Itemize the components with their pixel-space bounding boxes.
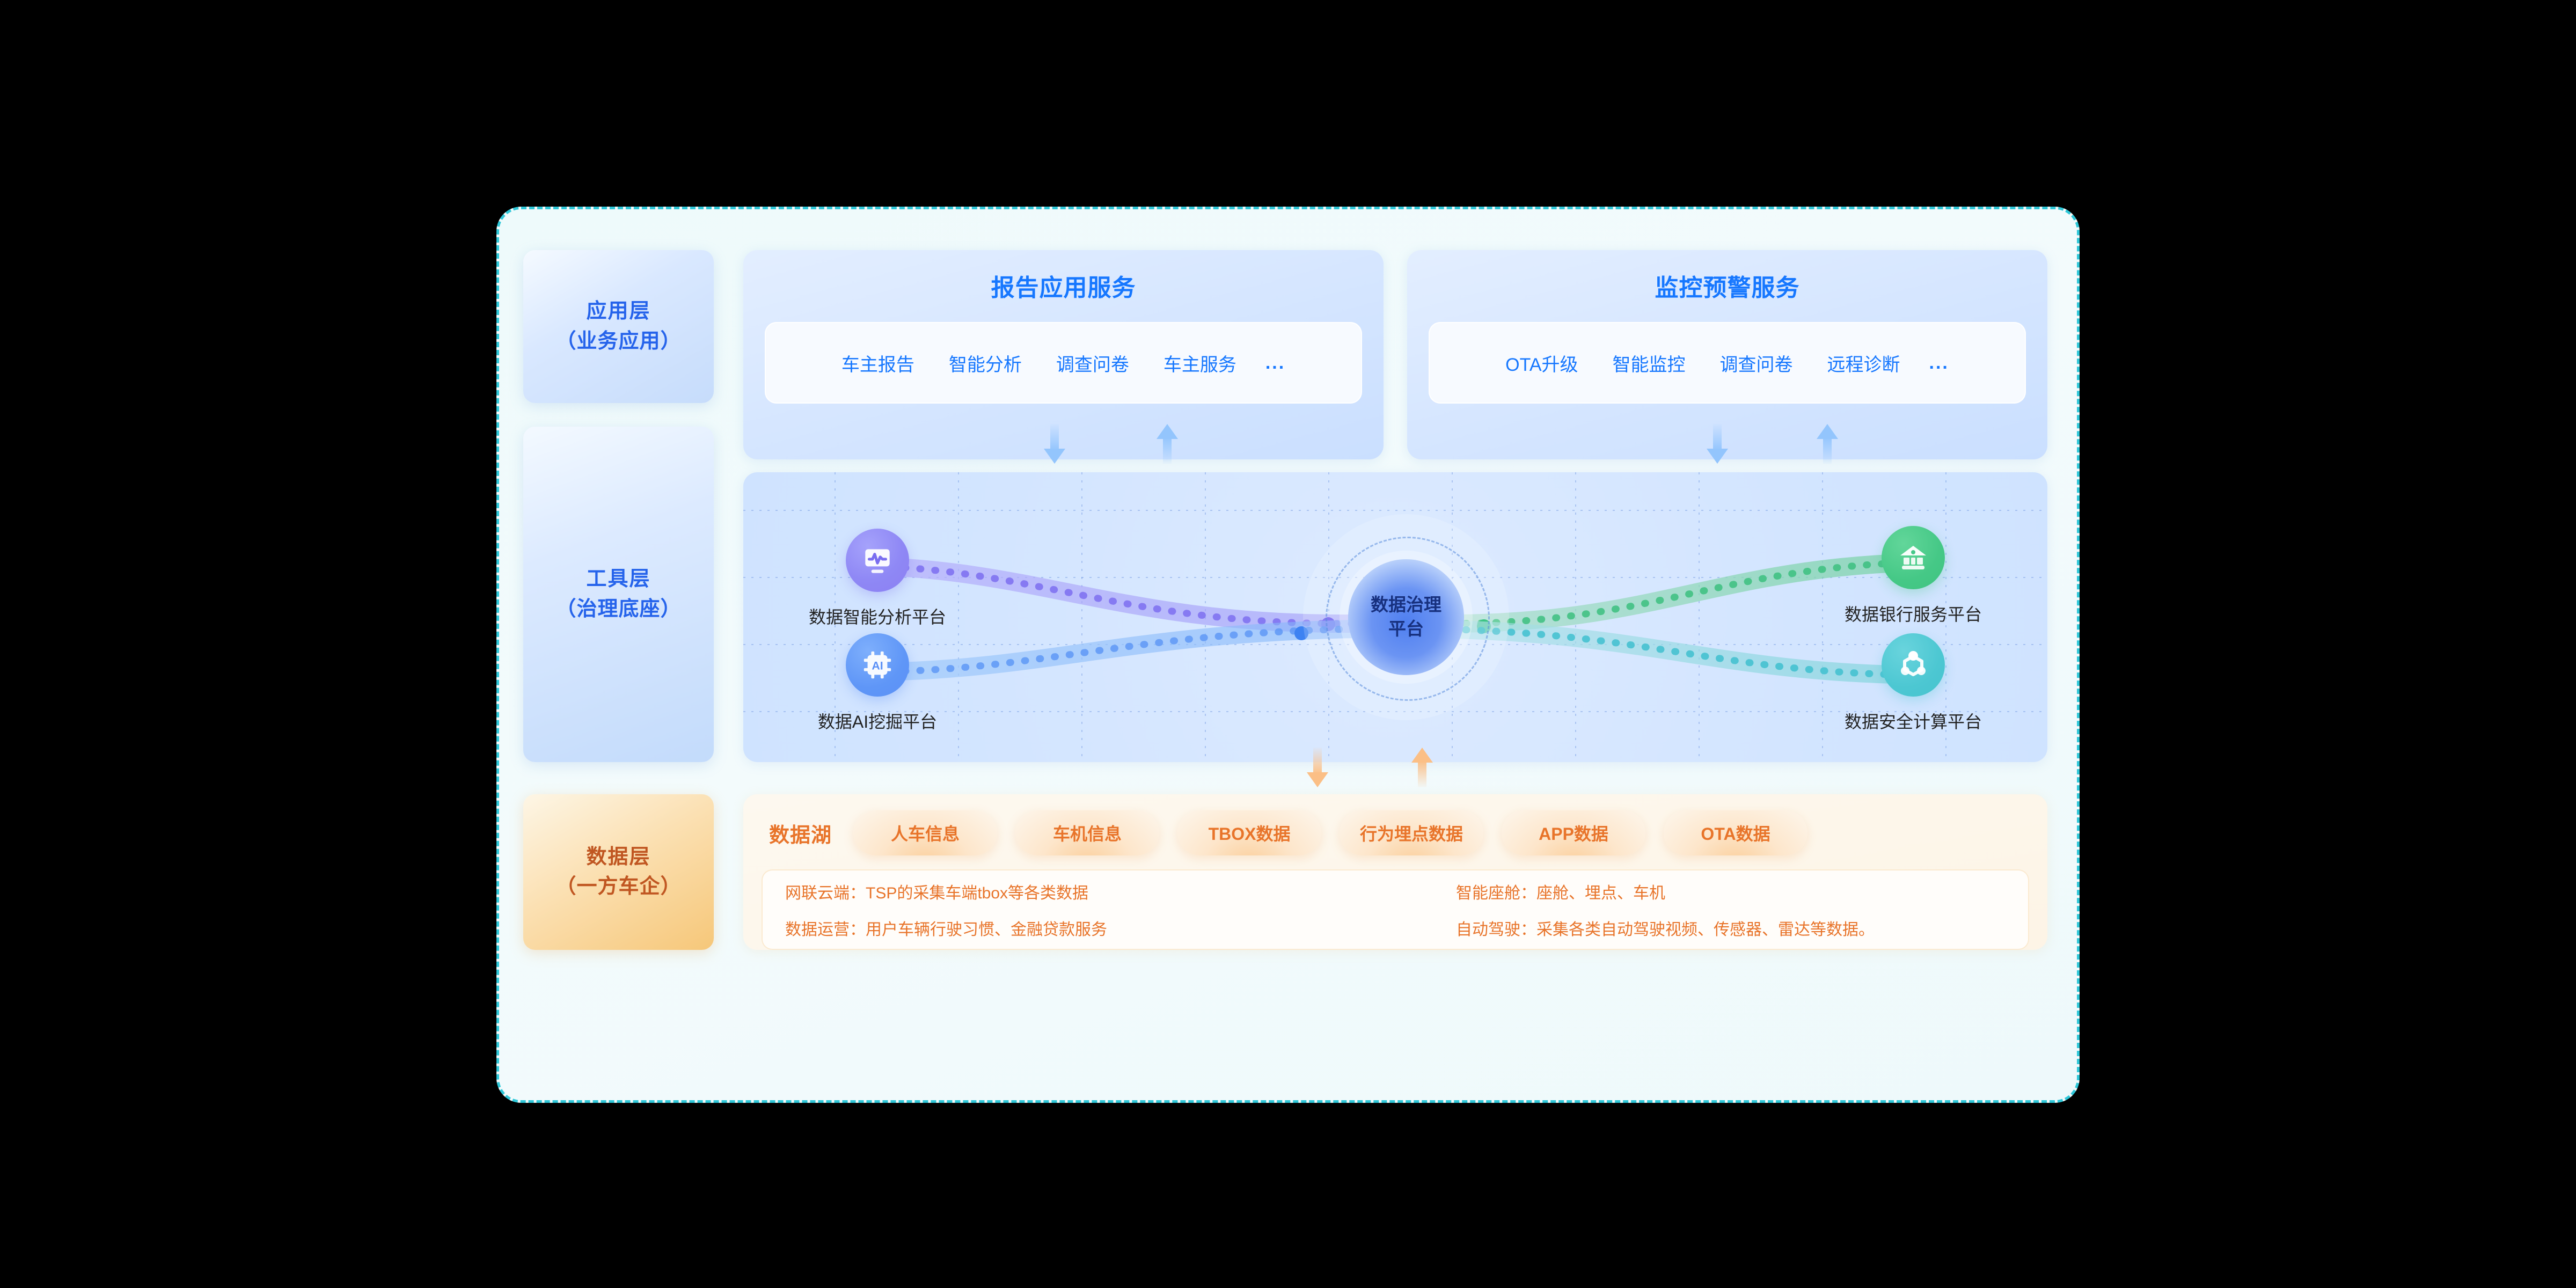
arrow-up-report xyxy=(1157,424,1178,464)
data-governance-hub[interactable]: 数据治理 平台 xyxy=(1336,547,1476,687)
data-lake-chip-row: 数据湖 人车信息 车机信息 TBOX数据 行为埋点数据 APP数据 OTA数据 xyxy=(762,807,2029,859)
hub-label-line2: 平台 xyxy=(1388,617,1424,641)
ai-chip-icon: AI xyxy=(846,633,909,697)
node-data-smart-analysis[interactable]: 数据智能分析平台 xyxy=(792,529,963,628)
data-layer-subtitle: （一方车企） xyxy=(555,872,681,902)
application-layer-title: 应用层 xyxy=(586,297,650,326)
sidebar-item-tool-layer[interactable]: 工具层 （治理底座） xyxy=(523,427,714,762)
bank-building-icon xyxy=(1882,526,1945,589)
svg-text:AI: AI xyxy=(872,660,883,672)
chip-app-data[interactable]: APP数据 xyxy=(1502,810,1645,855)
description-column-right: 智能座舱：座舱、埋点、车机 自动驾驶：采集各类自动驾驶视频、传感器、雷达等数据。 xyxy=(1456,880,2006,940)
monitor-item-smart-monitor[interactable]: 智能监控 xyxy=(1596,350,1703,376)
report-service-items: 车主报告 智能分析 调查问卷 车主服务 ... xyxy=(765,322,1362,404)
data-layer-title: 数据层 xyxy=(586,843,650,872)
desc-connected-cloud: 网联云端：TSP的采集车端tbox等各类数据 xyxy=(785,880,1456,903)
node-data-bank-service[interactable]: 数据银行服务平台 xyxy=(1827,526,1999,626)
shield-network-icon xyxy=(1882,633,1945,697)
chip-behavior-tracking-data[interactable]: 行为埋点数据 xyxy=(1340,810,1483,855)
chip-tbox-data[interactable]: TBOX数据 xyxy=(1177,810,1321,855)
arrow-up-data xyxy=(1411,748,1433,787)
sidebar-item-data-layer[interactable]: 数据层 （一方车企） xyxy=(523,794,714,950)
hub-label-line1: 数据治理 xyxy=(1371,593,1441,617)
data-description-box: 网联云端：TSP的采集车端tbox等各类数据 数据运营：用户车辆行驶习惯、金融贷… xyxy=(762,869,2029,950)
tool-layer-title: 工具层 xyxy=(586,565,650,594)
node-label: 数据安全计算平台 xyxy=(1845,708,1982,733)
application-layer-row: 报告应用服务 车主报告 智能分析 调查问卷 车主服务 ... 监控预警服务 OT… xyxy=(743,250,2047,459)
report-service-title: 报告应用服务 xyxy=(991,268,1136,303)
arrow-down-data xyxy=(1307,748,1328,787)
node-label: 数据银行服务平台 xyxy=(1845,601,1982,626)
report-item-more[interactable]: ... xyxy=(1254,353,1302,374)
arrow-down-monitor xyxy=(1707,424,1728,464)
monitor-service-items: OTA升级 智能监控 调查问卷 远程诊断 ... xyxy=(1429,322,2026,404)
node-label: 数据AI挖掘平台 xyxy=(818,708,937,733)
arrow-down-report xyxy=(1044,424,1065,464)
monitor-item-more[interactable]: ... xyxy=(1918,353,1966,374)
architecture-frame: 应用层 （业务应用） 工具层 （治理底座） 数据层 （一方车企） 报告应用服务 … xyxy=(496,207,2080,1103)
report-item-owner-service[interactable]: 车主服务 xyxy=(1146,350,1254,376)
monitor-item-remote-diagnosis[interactable]: 远程诊断 xyxy=(1810,350,1918,376)
node-data-ai-mining[interactable]: AI 数据AI挖掘平台 xyxy=(792,633,963,733)
tool-layer-subtitle: （治理底座） xyxy=(555,595,681,624)
chip-vehicle-machine-info[interactable]: 车机信息 xyxy=(1015,810,1159,855)
monitor-item-survey[interactable]: 调查问卷 xyxy=(1703,350,1810,376)
monitor-service-title: 监控预警服务 xyxy=(1655,268,1800,303)
report-item-smart-analysis[interactable]: 智能分析 xyxy=(932,350,1039,376)
desc-smart-cockpit: 智能座舱：座舱、埋点、车机 xyxy=(1456,880,2006,903)
data-lake-panel: 数据湖 人车信息 车机信息 TBOX数据 行为埋点数据 APP数据 OTA数据 … xyxy=(743,794,2047,950)
node-label: 数据智能分析平台 xyxy=(809,604,946,628)
chip-person-vehicle-info[interactable]: 人车信息 xyxy=(853,810,997,855)
arrow-up-monitor xyxy=(1817,424,1838,464)
chip-ota-data[interactable]: OTA数据 xyxy=(1664,810,1807,855)
data-lake-title: 数据湖 xyxy=(769,818,832,848)
hub-core: 数据治理 平台 xyxy=(1348,559,1464,675)
sidebar-item-application-layer[interactable]: 应用层 （业务应用） xyxy=(523,250,714,403)
diagram-canvas: 应用层 （业务应用） 工具层 （治理底座） 数据层 （一方车企） 报告应用服务 … xyxy=(0,0,2576,1288)
desc-data-operation: 数据运营：用户车辆行驶习惯、金融贷款服务 xyxy=(785,916,1456,940)
monitor-pulse-icon xyxy=(846,529,909,592)
description-column-left: 网联云端：TSP的采集车端tbox等各类数据 数据运营：用户车辆行驶习惯、金融贷… xyxy=(785,880,1456,940)
report-item-survey[interactable]: 调查问卷 xyxy=(1039,350,1146,376)
report-item-owner-report[interactable]: 车主报告 xyxy=(824,350,932,376)
tool-layer-panel: 数据治理 平台 数据智能分析平台 xyxy=(743,472,2047,762)
monitor-item-ota-upgrade[interactable]: OTA升级 xyxy=(1488,350,1595,376)
application-layer-subtitle: （业务应用） xyxy=(555,327,681,356)
node-data-security-computing[interactable]: 数据安全计算平台 xyxy=(1827,633,1999,733)
desc-autonomous-driving: 自动驾驶：采集各类自动驾驶视频、传感器、雷达等数据。 xyxy=(1456,916,2006,940)
